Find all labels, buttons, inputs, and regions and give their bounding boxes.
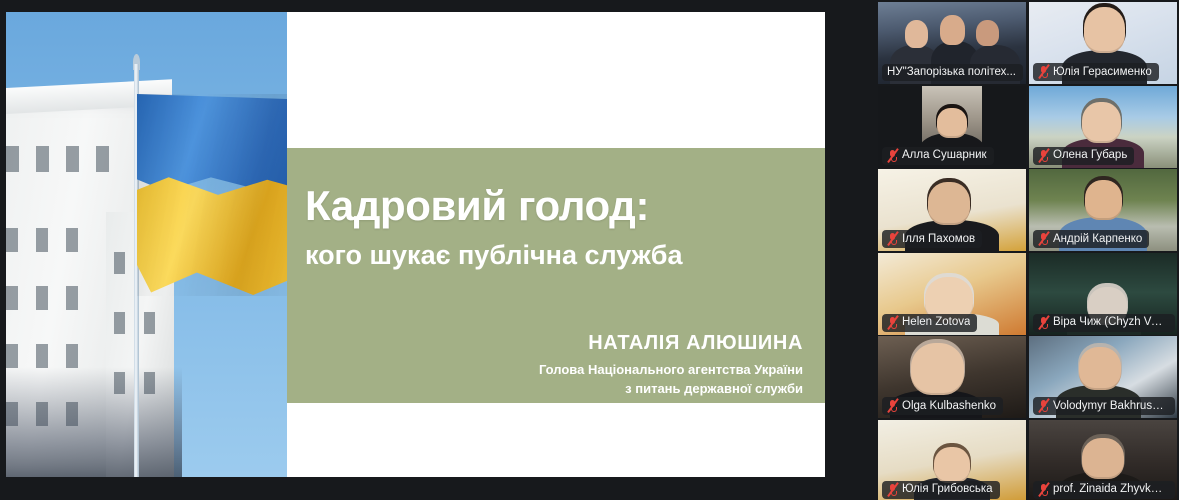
participant-silhouette-head <box>934 447 970 483</box>
participant-silhouette-head <box>1079 347 1120 390</box>
window <box>36 146 49 172</box>
participant-gallery[interactable]: НУ"Запорізька політех...Юлія Герасименко… <box>856 0 1179 500</box>
ukrainian-flag <box>137 94 287 296</box>
participant-tile[interactable]: Olga Kulbashenko <box>878 336 1026 418</box>
participant-tile[interactable]: Алла Сушарник <box>878 86 1026 168</box>
mic-muted-icon <box>887 149 898 162</box>
participant-name-chip: Ілля Пахомов <box>882 230 982 248</box>
participant-name-label: Андрій Карпенко <box>1053 233 1142 245</box>
participant-tile[interactable]: Олена Губарь <box>1029 86 1177 168</box>
participant-silhouette-head <box>911 343 964 395</box>
mic-slash-icon <box>886 231 900 246</box>
participant-silhouette-head <box>937 108 967 138</box>
window <box>66 146 79 172</box>
participant-tile[interactable]: Андрій Карпенко <box>1029 169 1177 251</box>
mic-slash-icon <box>1037 315 1051 330</box>
participant-silhouette-head <box>1082 438 1123 479</box>
participant-tile[interactable]: Юлія Грибовська <box>878 420 1026 500</box>
slide-speaker-name: НАТАЛІЯ АЛЮШИНА <box>588 332 803 355</box>
window <box>6 146 19 172</box>
mic-slash-icon <box>1037 64 1051 79</box>
participant-silhouette-head <box>1084 7 1125 53</box>
participant-name-label: Olga Kulbashenko <box>902 400 996 412</box>
mic-muted-icon <box>1038 149 1049 162</box>
window <box>36 228 48 252</box>
participant-tile[interactable]: Віра Чиж (Chyzh Vera) <box>1029 253 1177 335</box>
mic-muted-icon <box>887 316 898 329</box>
mic-slash-icon <box>1037 398 1051 413</box>
mic-slash-icon <box>886 148 900 163</box>
participant-tile[interactable]: НУ"Запорізька політех... <box>878 2 1026 84</box>
window <box>36 286 48 310</box>
participant-silhouette-head <box>940 15 965 45</box>
participant-name-chip: НУ"Запорізька політех... <box>882 64 1023 81</box>
participant-tile[interactable]: prof. Zinaida Zhyvko, ... <box>1029 420 1177 500</box>
participant-name-chip: Олена Губарь <box>1033 147 1134 165</box>
participant-name-chip: Helen Zotova <box>882 314 977 332</box>
participant-name-label: Олена Губарь <box>1053 149 1127 161</box>
mic-slash-icon <box>1037 148 1051 163</box>
mic-muted-icon <box>887 483 898 496</box>
participant-name-label: Віра Чиж (Chyzh Vera) <box>1053 316 1168 328</box>
mic-muted-icon <box>1038 232 1049 245</box>
building-shadow <box>6 367 182 477</box>
participant-name-chip: Андрій Карпенко <box>1033 230 1149 248</box>
participant-tile[interactable]: Ілля Пахомов <box>878 169 1026 251</box>
participant-silhouette-head <box>976 20 1000 46</box>
participant-name-chip: Olga Kulbashenko <box>882 397 1003 415</box>
participant-name-label: Volodymyr Bakhrushyn <box>1053 400 1168 412</box>
mic-slash-icon <box>886 315 900 330</box>
window <box>66 344 78 368</box>
window <box>6 286 18 310</box>
participant-name-label: Ілля Пахомов <box>902 233 975 245</box>
mic-muted-icon <box>1038 316 1049 329</box>
participant-name-label: Юлія Герасименко <box>1053 66 1152 78</box>
window <box>66 228 78 252</box>
participant-name-chip: Volodymyr Bakhrushyn <box>1033 397 1175 415</box>
mic-slash-icon <box>1037 482 1051 497</box>
participant-name-chip: prof. Zinaida Zhyvko, ... <box>1033 481 1175 499</box>
participant-tile[interactable]: Helen Zotova <box>878 253 1026 335</box>
mic-muted-icon <box>1038 399 1049 412</box>
participant-name-label: Helen Zotova <box>902 316 970 328</box>
participant-tile[interactable]: Юлія Герасименко <box>1029 2 1177 84</box>
participant-name-label: НУ"Запорізька політех... <box>887 66 1016 78</box>
flag-folds-shading <box>137 94 287 296</box>
mic-muted-icon <box>887 399 898 412</box>
participant-name-label: Юлія Грибовська <box>902 483 993 495</box>
participant-silhouette-head <box>1085 180 1122 219</box>
mic-slash-icon <box>886 482 900 497</box>
window <box>36 344 48 368</box>
participant-name-label: Алла Сушарник <box>902 149 987 161</box>
slide-title-band: Кадровий голод: кого шукає публічна служ… <box>287 148 825 403</box>
slide-photo-ukrainian-flag-building <box>6 12 287 477</box>
participant-name-chip: Алла Сушарник <box>882 147 994 165</box>
participant-name-label: prof. Zinaida Zhyvko, ... <box>1053 483 1168 495</box>
participant-name-chip: Юлія Грибовська <box>882 481 1000 499</box>
window <box>66 286 78 310</box>
participant-name-chip: Юлія Герасименко <box>1033 63 1159 81</box>
participant-tile[interactable]: Volodymyr Bakhrushyn <box>1029 336 1177 418</box>
window <box>6 344 18 368</box>
presentation-slide: Кадровий голод: кого шукає публічна служ… <box>6 12 825 477</box>
participant-silhouette-head <box>928 182 969 225</box>
mic-muted-icon <box>1038 65 1049 78</box>
window <box>144 312 155 334</box>
mic-muted-icon <box>1038 483 1049 496</box>
participant-silhouette-head <box>905 20 929 48</box>
window <box>96 146 109 172</box>
window <box>114 312 125 334</box>
window <box>6 228 18 252</box>
mic-slash-icon <box>886 398 900 413</box>
window <box>114 252 125 274</box>
mic-slash-icon <box>1037 231 1051 246</box>
slide-speaker-role-line1: Голова Національного агентства України <box>539 362 803 377</box>
participant-name-chip: Віра Чиж (Chyzh Vera) <box>1033 314 1175 332</box>
slide-speaker-role-line2: з питань державної служби <box>625 381 803 396</box>
screen-share-region[interactable]: Кадровий голод: кого шукає публічна служ… <box>0 0 856 500</box>
mic-muted-icon <box>887 232 898 245</box>
slide-title: Кадровий голод: <box>305 182 649 230</box>
participant-silhouette-head <box>1082 102 1120 143</box>
slide-subtitle: кого шукає публічна служба <box>305 240 682 271</box>
